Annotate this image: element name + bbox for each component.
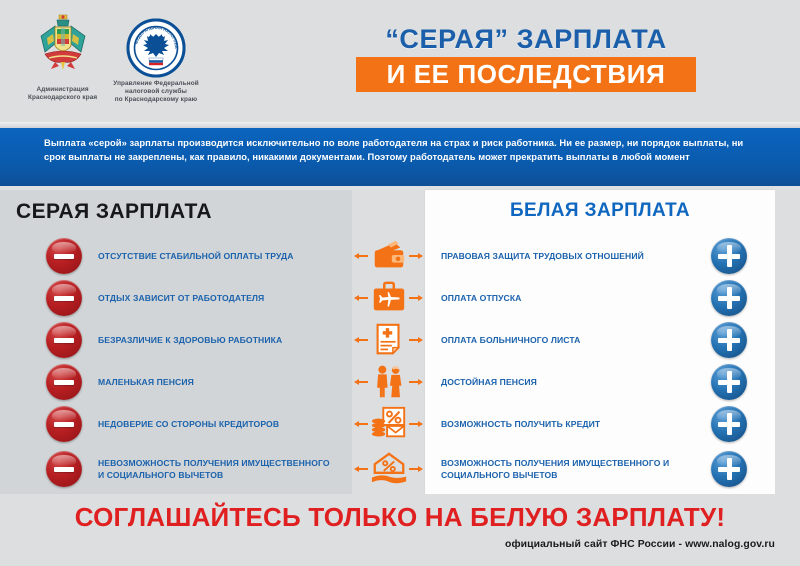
row-center-icons (352, 320, 425, 360)
arrow-left-icon (354, 337, 368, 343)
header: Администрация Краснодарского края ФЕДЕРА… (0, 0, 800, 122)
logo-krasnodar-krai: Администрация Краснодарского края (28, 12, 97, 102)
medical-certificate-icon (370, 321, 408, 359)
plus-badge (711, 322, 747, 358)
logo-caption-krasnodar: Администрация Краснодарского края (28, 86, 97, 102)
plus-badge (711, 451, 747, 487)
elderly-couple-icon (370, 363, 408, 401)
suitcase-plane-icon (370, 279, 408, 317)
gray-item-label: МАЛЕНЬКАЯ ПЕНСИЯ (98, 376, 338, 388)
arrow-right-icon (409, 337, 423, 343)
footer-slogan: СОГЛАШАЙТЕСЬ ТОЛЬКО НА БЕЛУЮ ЗАРПЛАТУ! (0, 502, 800, 533)
arrow-left-icon (354, 379, 368, 385)
info-banner: Выплата «серой» зарплаты производится ис… (0, 128, 800, 186)
info-banner-text: Выплата «серой» зарплаты производится ис… (44, 136, 758, 163)
coins-percent-icon (370, 405, 408, 443)
gray-item-label: БЕЗРАЗЛИЧИЕ К ЗДОРОВЬЮ РАБОТНИКА (98, 334, 338, 346)
white-item-label: ДОСТОЙНАЯ ПЕНСИЯ (441, 376, 691, 388)
row-center-icons (352, 404, 425, 444)
arrow-left-icon (354, 253, 368, 259)
arrow-right-icon (409, 253, 423, 259)
minus-badge (46, 238, 82, 274)
white-item-label: ОПЛАТА БОЛЬНИЧНОГО ЛИСТА (441, 334, 691, 346)
plus-badge (711, 280, 747, 316)
comparison-row: НЕВОЗМОЖНОСТЬ ПОЛУЧЕНИЯ ИМУЩЕСТВЕННОГО И… (0, 446, 800, 492)
white-item-label: ВОЗМОЖНОСТЬ ПОЛУЧЕНИЯ ИМУЩЕСТВЕННОГО И С… (441, 457, 691, 482)
arrow-right-icon (409, 295, 423, 301)
footer-official-site: официальный сайт ФНС России - www.nalog.… (0, 539, 775, 550)
minus-badge (46, 451, 82, 487)
row-center-icons (352, 236, 425, 276)
title-line-1: “СЕРАЯ” ЗАРПЛАТА (356, 24, 696, 54)
federal-tax-service-emblem: ФЕДЕРАЛЬНАЯ НАЛОГОВАЯ СЛУЖБА (126, 18, 186, 78)
row-center-icons (352, 278, 425, 318)
footer: СОГЛАШАЙТЕСЬ ТОЛЬКО НА БЕЛУЮ ЗАРПЛАТУ! о… (0, 494, 800, 566)
minus-badge (46, 406, 82, 442)
title-line-2: И ЕЕ ПОСЛЕДСТВИЯ (356, 60, 696, 88)
gray-item-label: ОТСУТСТВИЕ СТАБИЛЬНОЙ ОПЛАТЫ ТРУДА (98, 250, 338, 262)
white-item-label: ВОЗМОЖНОСТЬ ПОЛУЧИТЬ КРЕДИТ (441, 418, 691, 430)
minus-badge (46, 364, 82, 400)
wallet-icon (370, 237, 408, 275)
arrow-left-icon (354, 295, 368, 301)
arrow-right-icon (409, 421, 423, 427)
arrow-right-icon (409, 379, 423, 385)
logo-group: Администрация Краснодарского края ФЕДЕРА… (28, 12, 199, 105)
gray-item-label: ОТДЫХ ЗАВИСИТ ОТ РАБОТОДАТЕЛЯ (98, 292, 338, 304)
plus-badge (711, 364, 747, 400)
minus-badge (46, 280, 82, 316)
white-item-label: ОПЛАТА ОТПУСКА (441, 292, 691, 304)
gray-item-label: НЕВОЗМОЖНОСТЬ ПОЛУЧЕНИЯ ИМУЩЕСТВЕННОГО И… (98, 457, 338, 482)
comparison-row: БЕЗРАЗЛИЧИЕ К ЗДОРОВЬЮ РАБОТНИКА ОПЛАТА … (0, 320, 800, 360)
house-percent-hand-icon (370, 450, 408, 488)
logo-caption-fns: Управление Федеральной налоговой службы … (113, 80, 199, 105)
comparison-rows: ОТСУТСТВИЕ СТАБИЛЬНОЙ ОПЛАТЫ ТРУДА ПРАВО… (0, 236, 800, 486)
comparison-row: ОТДЫХ ЗАВИСИТ ОТ РАБОТОДАТЕЛЯ ОПЛАТА ОТП… (0, 278, 800, 318)
arrow-right-icon (409, 466, 423, 472)
plus-badge (711, 238, 747, 274)
title-highlight-box: И ЕЕ ПОСЛЕДСТВИЯ (356, 57, 696, 92)
row-center-icons (352, 446, 425, 492)
gray-item-label: НЕДОВЕРИЕ СО СТОРОНЫ КРЕДИТОРОВ (98, 418, 338, 430)
arrow-left-icon (354, 466, 368, 472)
page-title: “СЕРАЯ” ЗАРПЛАТА И ЕЕ ПОСЛЕДСТВИЯ (356, 24, 696, 92)
comparison-row: НЕДОВЕРИЕ СО СТОРОНЫ КРЕДИТОРОВ ВОЗМОЖНО… (0, 404, 800, 444)
arrow-left-icon (354, 421, 368, 427)
row-center-icons (352, 362, 425, 402)
white-item-label: ПРАВОВАЯ ЗАЩИТА ТРУДОВЫХ ОТНОШЕНИЙ (441, 250, 691, 262)
logo-federal-tax-service: ФЕДЕРАЛЬНАЯ НАЛОГОВАЯ СЛУЖБА Управление … (113, 12, 199, 105)
minus-badge (46, 322, 82, 358)
plus-badge (711, 406, 747, 442)
comparison-row: МАЛЕНЬКАЯ ПЕНСИЯ ДОСТОЙНАЯ ПЕНСИЯ (0, 362, 800, 402)
comparison-row: ОТСУТСТВИЕ СТАБИЛЬНОЙ ОПЛАТЫ ТРУДА ПРАВО… (0, 236, 800, 276)
krasnodar-krai-coat-of-arms (35, 12, 91, 84)
white-salary-heading: БЕЛАЯ ЗАРПЛАТА (425, 200, 775, 222)
gray-salary-heading: СЕРАЯ ЗАРПЛАТА (16, 200, 212, 224)
